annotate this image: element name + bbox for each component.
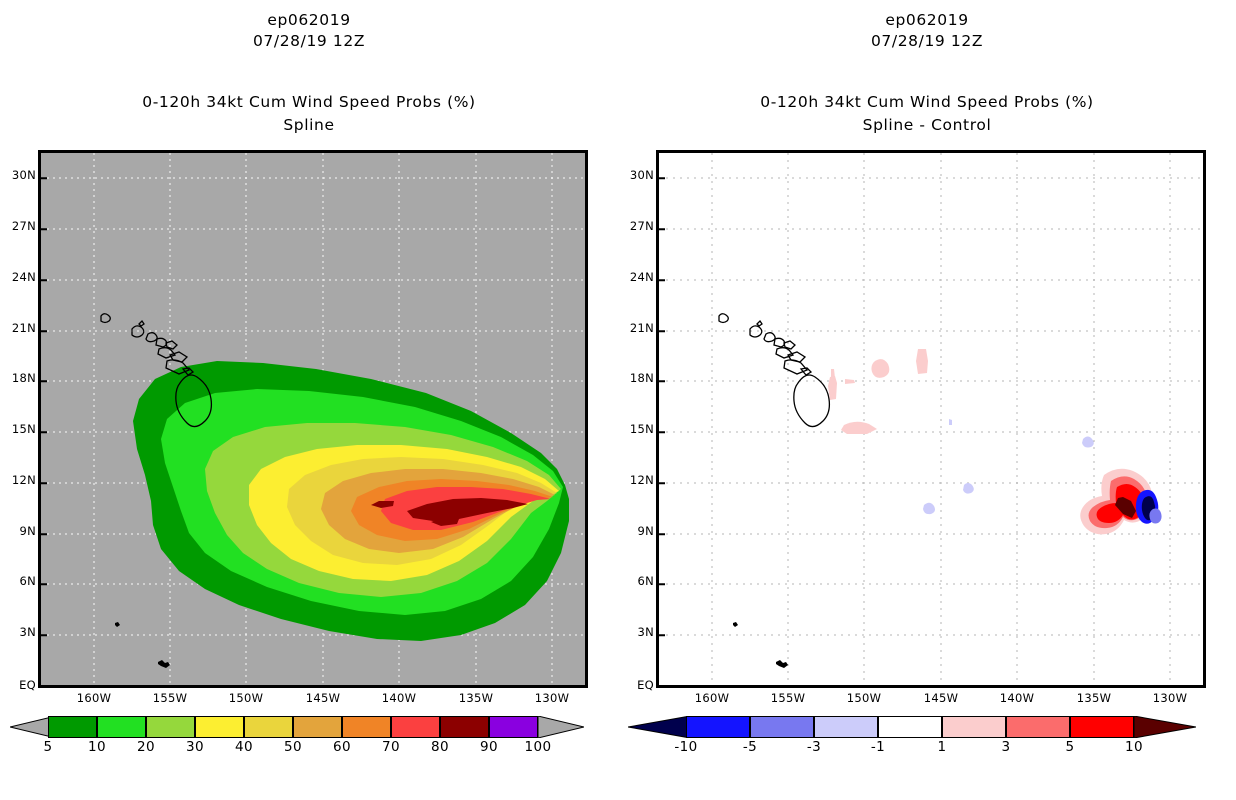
colorbar-cell-40-50 [244,716,293,738]
colorbar-tick-20: 20 [124,739,168,755]
colorbar-tick-neg3: -3 [792,739,836,755]
ytick-24n: 24N [2,270,36,284]
colorbar-under-arrow-right [628,716,690,738]
xtick-145w: 145W [298,691,348,705]
panel-title-storm-id: ep062019 [618,10,1236,31]
xtick-140w: 140W [374,691,424,705]
colorbar-cell-60-70 [342,716,391,738]
probability-colorbar: 5 10 20 30 40 50 60 70 80 90 100 [48,716,578,762]
y-axis-labels-left: 30N 27N 24N 21N 18N 15N 12N 9N 6N 3N EQ [0,150,36,688]
colorbar-cell-30-40 [195,716,244,738]
colorbar-labels-right: -10 -5 -3 -1 1 3 5 10 [686,739,1134,759]
ytick-3n: 3N [2,625,36,639]
ytick-12n: 12N [620,473,654,487]
colorbar-tick-80: 80 [418,739,462,755]
colorbar-tick-neg5: -5 [728,739,772,755]
ytick-18n: 18N [2,371,36,385]
xtick-160w: 160W [69,691,119,705]
colorbar-tick-100: 100 [516,739,560,755]
colorbar-cell-20-30 [146,716,195,738]
xtick-155w: 155W [145,691,195,705]
colorbar-cell-50-60 [293,716,342,738]
xtick-135w: 135W [1069,691,1119,705]
colorbar-tick-50: 50 [271,739,315,755]
colorbar-tick-10: 10 [1112,739,1156,755]
ytick-15n: 15N [2,422,36,436]
colorbar-cell-neg5-neg3 [750,716,814,738]
colorbar-tick-5: 5 [1048,739,1092,755]
xtick-145w: 145W [916,691,966,705]
ytick-27n: 27N [620,219,654,233]
colorbar-cell-neg3-neg1 [814,716,878,738]
colorbar-tick-60: 60 [320,739,364,755]
panel-title-subtitle: Spline [0,115,618,136]
ytick-9n: 9N [620,524,654,538]
colorbar-cell-3-5 [1006,716,1070,738]
map-plot-area-difference [656,150,1206,688]
colorbar-cell-1-3 [942,716,1006,738]
xtick-130w: 130W [1145,691,1195,705]
xtick-155w: 155W [763,691,813,705]
panel-title-date: 07/28/19 12Z [0,31,618,52]
ytick-30n: 30N [2,168,36,182]
colorbar-cell-neg10-neg5 [686,716,750,738]
colorbar-cells-right [686,716,1134,738]
colorbar-cell-80-90 [440,716,489,738]
colorbar-tick-neg1: -1 [856,739,900,755]
xtick-150w: 150W [221,691,271,705]
ytick-15n: 15N [620,422,654,436]
colorbar-tick-10: 10 [75,739,119,755]
x-axis-labels-left: 160W 155W 150W 145W 140W 135W 130W [38,691,588,711]
colorbar-cell-5-10 [48,716,97,738]
colorbar-tick-30: 30 [173,739,217,755]
colorbar-tick-90: 90 [467,739,511,755]
ytick-6n: 6N [2,574,36,588]
ytick-6n: 6N [620,574,654,588]
colorbar-over-arrow-right [1134,716,1196,738]
panel-title-date: 07/28/19 12Z [618,31,1236,52]
colorbar-tick-3: 3 [984,739,1028,755]
colorbar-over-arrow-left [538,716,584,738]
ytick-eq: EQ [620,678,654,692]
colorbar-tick-5: 5 [26,739,70,755]
xtick-130w: 130W [527,691,577,705]
ytick-eq: EQ [2,678,36,692]
colorbar-tick-1: 1 [920,739,964,755]
x-axis-labels-right: 160W 155W 150W 145W 140W 135W 130W [656,691,1206,711]
colorbar-tick-40: 40 [222,739,266,755]
colorbar-cell-70-80 [391,716,440,738]
ytick-24n: 24N [620,270,654,284]
ytick-marks-right [659,153,1203,685]
ytick-21n: 21N [620,321,654,335]
xtick-160w: 160W [687,691,737,705]
colorbar-cell-10-20 [97,716,146,738]
colorbar-cell-neg1-1 [878,716,942,738]
spline-panel: ep062019 07/28/19 12Z 0-120h 34kt Cum Wi… [0,0,618,800]
xtick-135w: 135W [451,691,501,705]
y-axis-labels-right: 30N 27N 24N 21N 18N 15N 12N 9N 6N 3N EQ [618,150,654,688]
panel-title-storm-id: ep062019 [0,10,618,31]
colorbar-tick-70: 70 [369,739,413,755]
colorbar-tick-neg10: -10 [664,739,708,755]
ytick-21n: 21N [2,321,36,335]
ytick-marks-left [41,153,585,685]
panel-title-main: 0-120h 34kt Cum Wind Speed Probs (%) [618,92,1236,113]
ytick-30n: 30N [620,168,654,182]
colorbar-cell-90-100 [489,716,538,738]
map-plot-area-spline [38,150,588,688]
xtick-140w: 140W [992,691,1042,705]
panel-title-main: 0-120h 34kt Cum Wind Speed Probs (%) [0,92,618,113]
colorbar-cells-left [48,716,538,738]
figure-canvas: ep062019 07/28/19 12Z 0-120h 34kt Cum Wi… [0,0,1236,800]
ytick-12n: 12N [2,473,36,487]
ytick-18n: 18N [620,371,654,385]
difference-colorbar: -10 -5 -3 -1 1 3 5 10 [686,716,1176,762]
ytick-9n: 9N [2,524,36,538]
xtick-150w: 150W [839,691,889,705]
colorbar-labels-left: 5 10 20 30 40 50 60 70 80 90 100 [48,739,538,759]
ytick-27n: 27N [2,219,36,233]
panel-title-subtitle: Spline - Control [618,115,1236,136]
ytick-3n: 3N [620,625,654,639]
colorbar-cell-5-10 [1070,716,1134,738]
spline-minus-control-panel: ep062019 07/28/19 12Z 0-120h 34kt Cum Wi… [618,0,1236,800]
